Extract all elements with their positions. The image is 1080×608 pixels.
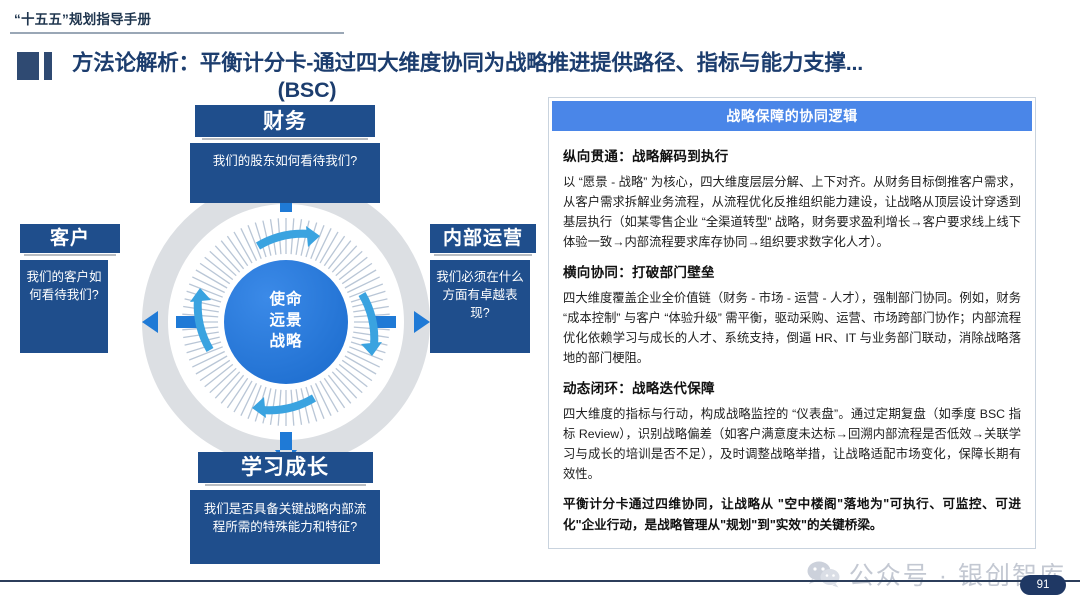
panel-conclusion: 平衡计分卡通过四维协同，让战略从 "空中楼阁"落地为"可执行、可监控、可进化"企…	[563, 494, 1021, 534]
panel-content: 纵向贯通：战略解码到执行 以 “愿景 - 战略” 为核心，四大维度层层分解、上下…	[549, 131, 1035, 539]
perspective-learning-growth-question: 我们是否具备关键战略内部流程所需的特殊能力和特征?	[190, 490, 380, 564]
section-body: 四大维度覆盖企业全价值链（财务 - 市场 - 运营 - 人才），强制部门协同。例…	[563, 288, 1021, 368]
section-body: 四大维度的指标与行动，构成战略监控的 “仪表盘”。通过定期复盘（如季度 BSC …	[563, 404, 1021, 484]
synergy-logic-panel: 战略保障的协同逻辑 纵向贯通：战略解码到执行 以 “愿景 - 战略” 为核心，四…	[548, 97, 1036, 549]
page-number-badge: 91	[1020, 575, 1066, 595]
perspective-internal-operations-question: 我们必须在什么方面有卓越表现?	[430, 260, 530, 353]
perspective-customer: 客户 我们的客户如何看待我们?	[14, 224, 126, 353]
section-heading: 纵向贯通：战略解码到执行	[563, 145, 1021, 165]
footer-divider	[0, 580, 1080, 582]
headline-marker	[17, 52, 52, 80]
page-title: 方法论解析：平衡计分卡-通过四大维度协同为战略推进提供路径、指标与能力支撑...	[72, 50, 1062, 78]
perspective-learning-growth-title: 学习成长	[198, 452, 373, 483]
perspective-finance-title: 财务	[195, 105, 375, 137]
document-kicker: “十五五”规划指导手册	[14, 8, 151, 28]
perspective-finance: 财务 我们的股东如何看待我们?	[190, 105, 380, 203]
perspective-learning-growth: 学习成长 我们是否具备关键战略内部流程所需的特殊能力和特征?	[190, 452, 380, 564]
perspective-customer-title: 客户	[20, 224, 120, 253]
perspective-customer-question: 我们的客户如何看待我们?	[20, 260, 108, 353]
perspective-internal-operations: 内部运营 我们必须在什么方面有卓越表现?	[430, 224, 540, 353]
bsc-diagram: 使命 远景 战略 财务 我们的股东如何看待我们? 客户 我们的客户如何看待我们?…	[0, 100, 548, 580]
section-body: 以 “愿景 - 战略” 为核心，四大维度层层分解、上下对齐。从财务目标倒推客户需…	[563, 172, 1021, 252]
headline-marker-block-large	[17, 52, 39, 80]
section-heading: 动态闭环：战略迭代保障	[563, 377, 1021, 397]
wechat-icon	[807, 561, 841, 588]
headline-marker-block-small	[44, 52, 52, 80]
wheel-center-circle	[224, 260, 348, 384]
perspective-internal-operations-title: 内部运营	[430, 224, 536, 253]
panel-title: 战略保障的协同逻辑	[552, 101, 1032, 131]
perspective-finance-question: 我们的股东如何看待我们?	[190, 143, 380, 203]
section-heading: 横向协同：打破部门壁垒	[563, 261, 1021, 281]
kicker-divider	[10, 32, 344, 34]
